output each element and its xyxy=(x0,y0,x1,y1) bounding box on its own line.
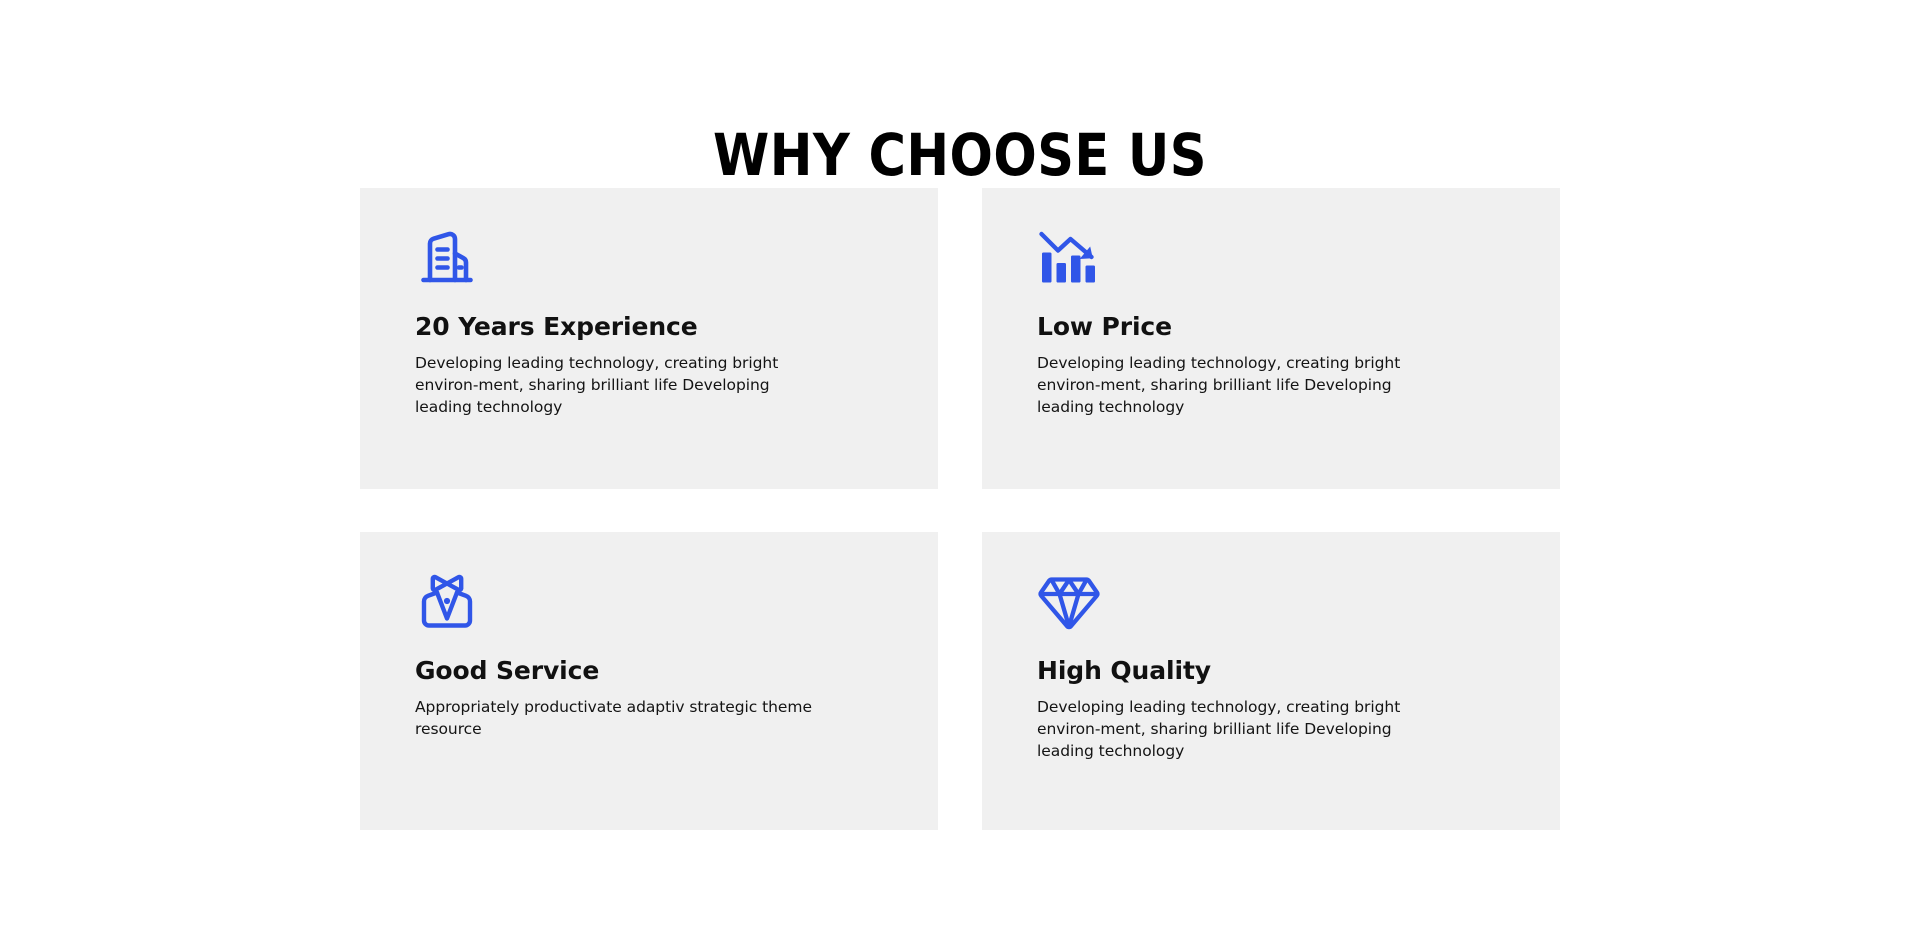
page-title: WHY CHOOSE US xyxy=(115,123,1805,187)
feature-card-title: 20 Years Experience xyxy=(415,312,883,342)
feature-card-description: Developing leading technology, creating … xyxy=(1037,352,1449,418)
feature-card-title: Low Price xyxy=(1037,312,1505,342)
diamond-gem-icon xyxy=(1037,570,1101,634)
feature-card-description: Appropriately productivate adaptiv strat… xyxy=(415,696,827,740)
feature-card-high-quality[interactable]: High Quality Developing leading technolo… xyxy=(982,532,1560,830)
feature-card-low-price[interactable]: Low Price Developing leading technology,… xyxy=(982,188,1560,489)
declining-bar-chart-icon xyxy=(1037,226,1101,290)
feature-card-title: High Quality xyxy=(1037,656,1505,686)
office-building-icon xyxy=(415,226,479,290)
feature-card-description: Developing leading technology, creating … xyxy=(415,352,827,418)
feature-card-description: Developing leading technology, creating … xyxy=(1037,696,1449,762)
feature-card-20-years-experience[interactable]: 20 Years Experience Developing leading t… xyxy=(360,188,938,489)
feature-card-good-service[interactable]: Good Service Appropriately productivate … xyxy=(360,532,938,830)
tuxedo-bowtie-icon xyxy=(415,570,479,634)
feature-card-title: Good Service xyxy=(415,656,883,686)
why-choose-us-section: WHY CHOOSE US 20 Years Experience xyxy=(0,0,1920,930)
feature-card-grid: 20 Years Experience Developing leading t… xyxy=(360,188,1560,830)
